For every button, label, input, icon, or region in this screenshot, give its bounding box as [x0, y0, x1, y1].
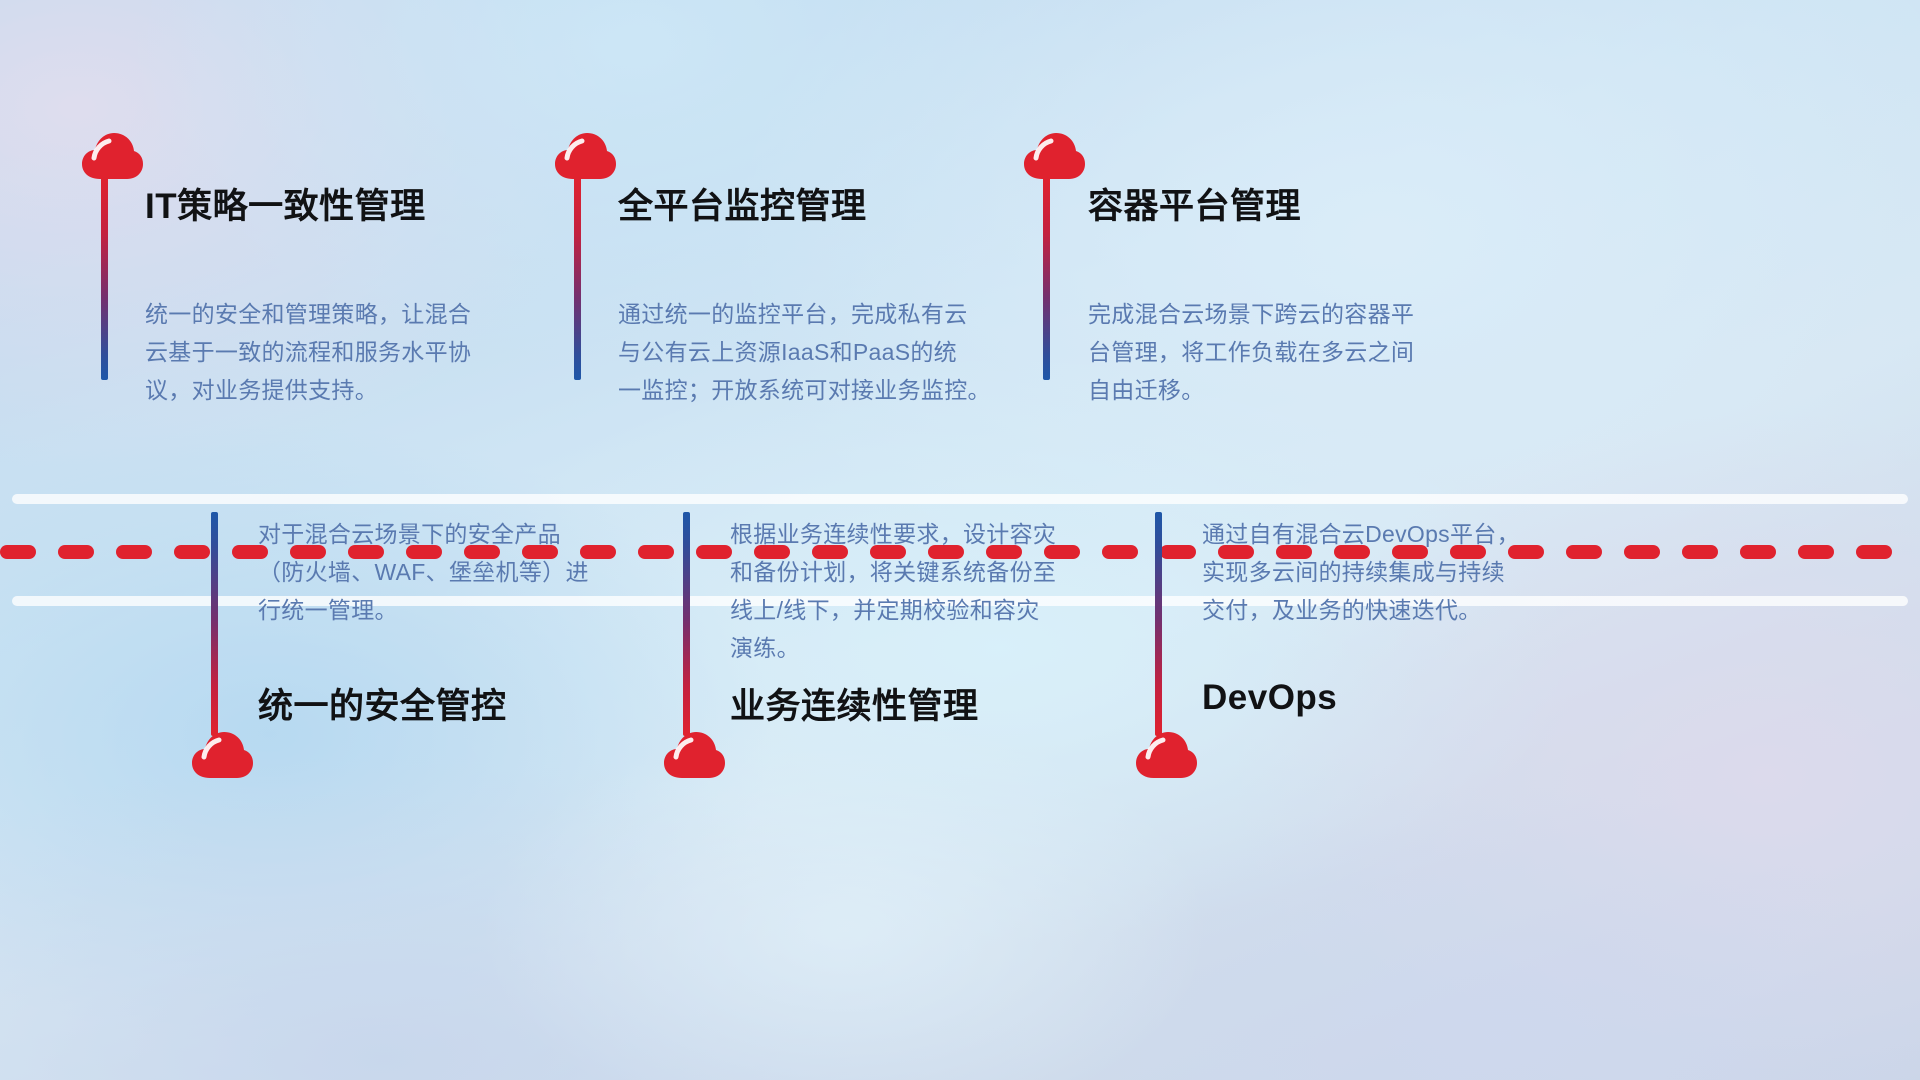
- body-line: 交付，及业务的快速迭代。: [1202, 591, 1520, 629]
- stem-line: [1043, 176, 1050, 380]
- body-line: 台管理，将工作负载在多云之间: [1088, 333, 1414, 371]
- divider-dash: [1624, 545, 1660, 559]
- divider-line-upper: [12, 494, 1908, 504]
- card-body: 通过统一的监控平台，完成私有云 与公有云上资源IaaS和PaaS的统 一监控；开…: [618, 295, 991, 409]
- body-line: 实现多云间的持续集成与持续: [1202, 553, 1520, 591]
- body-line: 根据业务连续性要求，设计容灾: [730, 515, 1056, 553]
- body-line: 通过统一的监控平台，完成私有云: [618, 295, 991, 333]
- stem-line: [1155, 512, 1162, 736]
- card-heading: DevOps: [1202, 678, 1337, 718]
- card-body: 对于混合云场景下的安全产品 （防火墙、WAF、堡垒机等）进 行统一管理。: [258, 515, 589, 629]
- cloud-icon: [553, 132, 617, 180]
- divider-dash: [116, 545, 152, 559]
- body-line: 一监控；开放系统可对接业务监控。: [618, 371, 991, 409]
- divider-dash: [1566, 545, 1602, 559]
- card-heading: 统一的安全管控: [258, 678, 507, 729]
- card-heading: IT策略一致性管理: [145, 178, 426, 229]
- body-line: 演练。: [730, 629, 1056, 667]
- divider-dash: [58, 545, 94, 559]
- body-line: 完成混合云场景下跨云的容器平: [1088, 295, 1414, 333]
- card-body: 完成混合云场景下跨云的容器平 台管理，将工作负载在多云之间 自由迁移。: [1088, 295, 1414, 409]
- body-line: 议，对业务提供支持。: [145, 371, 471, 409]
- body-line: 统一的安全和管理策略，让混合: [145, 295, 471, 333]
- body-line: 对于混合云场景下的安全产品: [258, 515, 589, 553]
- body-line: 云基于一致的流程和服务水平协: [145, 333, 471, 371]
- cloud-icon: [190, 731, 254, 779]
- card-body: 通过自有混合云DevOps平台， 实现多云间的持续集成与持续 交付，及业务的快速…: [1202, 515, 1520, 629]
- body-line: 通过自有混合云DevOps平台，: [1202, 515, 1520, 553]
- card-body: 统一的安全和管理策略，让混合 云基于一致的流程和服务水平协 议，对业务提供支持。: [145, 295, 471, 409]
- body-line: （防火墙、WAF、堡垒机等）进: [258, 553, 589, 591]
- card-heading: 容器平台管理: [1088, 178, 1301, 229]
- body-line: 行统一管理。: [258, 591, 589, 629]
- cloud-icon: [80, 132, 144, 180]
- cloud-icon: [1134, 731, 1198, 779]
- divider-dash: [0, 545, 36, 559]
- divider-dash: [1102, 545, 1138, 559]
- divider-dash: [1160, 545, 1196, 559]
- card-heading: 全平台监控管理: [618, 178, 867, 229]
- card-body: 根据业务连续性要求，设计容灾 和备份计划，将关键系统备份至 线上/线下，并定期校…: [730, 515, 1056, 667]
- divider-dash: [1798, 545, 1834, 559]
- divider-dash: [696, 545, 732, 559]
- divider-dash: [638, 545, 674, 559]
- stem-line: [574, 176, 581, 380]
- cloud-icon: [1022, 132, 1086, 180]
- divider-dash: [1682, 545, 1718, 559]
- card-heading: 业务连续性管理: [730, 678, 979, 729]
- body-line: 线上/线下，并定期校验和容灾: [730, 591, 1056, 629]
- body-line: 自由迁移。: [1088, 371, 1414, 409]
- divider-dash: [174, 545, 210, 559]
- body-line: 和备份计划，将关键系统备份至: [730, 553, 1056, 591]
- stem-line: [683, 512, 690, 736]
- cloud-icon: [662, 731, 726, 779]
- body-line: 与公有云上资源IaaS和PaaS的统: [618, 333, 991, 371]
- divider-dash: [1740, 545, 1776, 559]
- stem-line: [211, 512, 218, 736]
- stem-line: [101, 176, 108, 380]
- divider-dash: [1856, 545, 1892, 559]
